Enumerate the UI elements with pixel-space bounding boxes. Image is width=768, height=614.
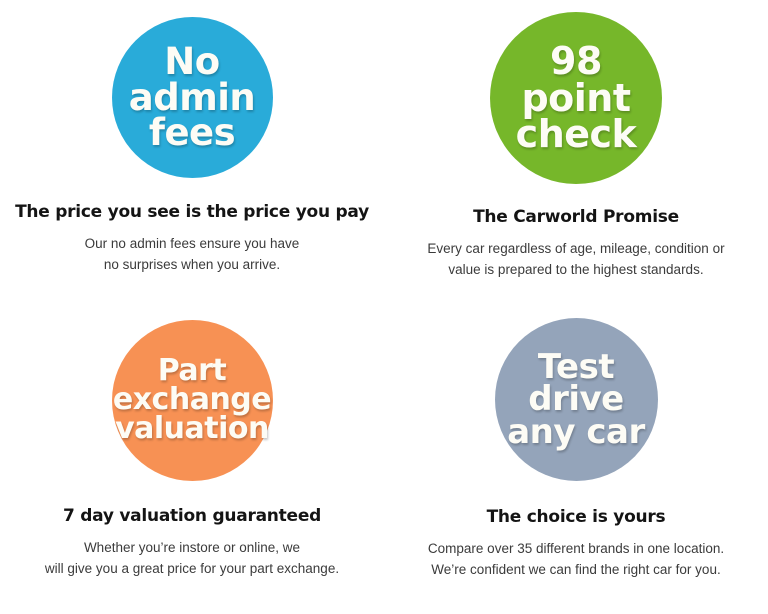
test-drive-any-car-badge: Test drive any car bbox=[495, 318, 658, 481]
badge-line-2: point bbox=[516, 80, 637, 116]
badge-line-3: check bbox=[516, 116, 637, 152]
usp-tile-no-admin-fees[interactable]: No admin fees The price you see is the p… bbox=[0, 0, 384, 307]
usp-heading: The choice is yours bbox=[487, 507, 666, 527]
usp-heading: The Carworld Promise bbox=[473, 207, 679, 227]
usp-body: Compare over 35 different brands in one … bbox=[428, 539, 724, 580]
usp-grid: No admin fees The price you see is the p… bbox=[0, 0, 768, 614]
badge-line-1: No bbox=[129, 44, 256, 80]
badge-line-3: any car bbox=[507, 416, 645, 449]
usp-heading: 7 day valuation guaranteed bbox=[63, 506, 321, 526]
usp-tile-test-drive-any-car[interactable]: Test drive any car The choice is yours C… bbox=[384, 307, 768, 614]
usp-tile-part-exchange-valuation[interactable]: Part exchange valuation 7 day valuation … bbox=[0, 307, 384, 614]
badge-line-2: admin bbox=[129, 80, 256, 116]
badge-label: Part exchange valuation bbox=[113, 357, 271, 443]
usp-body: Our no admin fees ensure you have no sur… bbox=[85, 234, 300, 275]
usp-body: Whether you’re instore or online, we wil… bbox=[45, 538, 339, 579]
badge-line-1: 98 bbox=[516, 43, 637, 79]
usp-heading: The price you see is the price you pay bbox=[15, 202, 369, 222]
no-admin-fees-badge: No admin fees bbox=[112, 17, 273, 178]
badge-label: 98 point check bbox=[516, 43, 637, 152]
badge-label: No admin fees bbox=[129, 44, 256, 151]
part-exchange-valuation-badge: Part exchange valuation bbox=[112, 320, 273, 481]
badge-label: Test drive any car bbox=[507, 351, 645, 449]
badge-line-3: fees bbox=[129, 115, 256, 151]
usp-tile-98-point-check[interactable]: 98 point check The Carworld Promise Ever… bbox=[384, 0, 768, 307]
98-point-check-badge: 98 point check bbox=[490, 12, 662, 184]
badge-line-3: valuation bbox=[113, 415, 271, 444]
badge-line-2: drive bbox=[507, 383, 645, 416]
usp-body: Every car regardless of age, mileage, co… bbox=[427, 239, 724, 280]
